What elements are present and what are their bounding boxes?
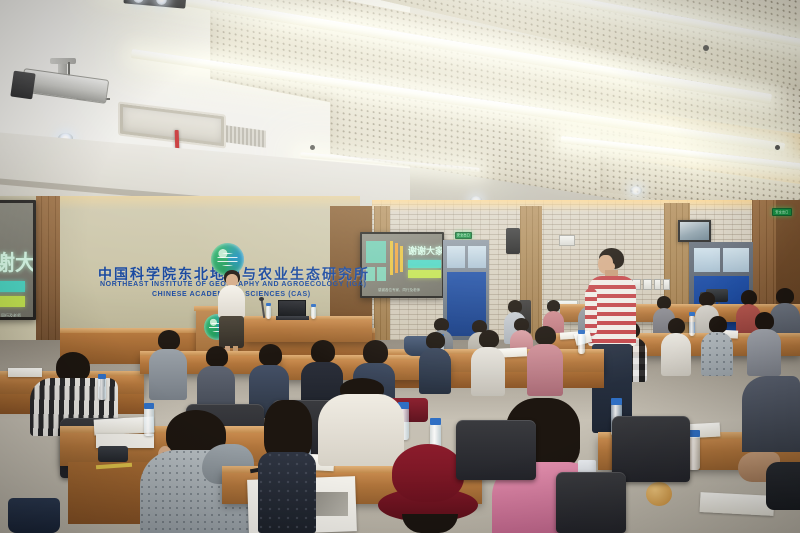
list-item — [660, 318, 692, 376]
attendee-hair — [158, 330, 180, 350]
slide-footer: 感谢各位专家、同行及老师 — [378, 288, 420, 293]
framed-landscape-picture — [678, 220, 711, 242]
slide-date-bar — [0, 296, 25, 307]
attendee-top — [742, 376, 800, 452]
doorway-glass-pane — [468, 246, 486, 268]
attendee-hair — [668, 318, 685, 334]
wall-mounted-loudspeaker — [506, 228, 520, 254]
exit-sign: 安全出口 — [455, 232, 472, 239]
exit-sign: 安全出口 — [772, 208, 792, 216]
bottle-cap — [266, 303, 271, 306]
attendee-hair — [741, 290, 757, 305]
questioner-ear — [610, 263, 615, 270]
attendee-hair — [709, 316, 727, 333]
attendee-top — [747, 329, 781, 376]
orange-fruit-on-desk — [646, 482, 672, 506]
bucket-hat-crown — [392, 444, 464, 502]
attendee-hair — [363, 340, 388, 364]
wall-switch-plate[interactable] — [663, 279, 670, 290]
water-bottle — [266, 306, 271, 319]
slide-chart-block — [366, 241, 386, 263]
bottle-cap — [689, 312, 695, 316]
right-wall-cove-light — [372, 200, 800, 212]
list-item — [470, 330, 506, 396]
attendee-hair — [755, 312, 774, 330]
attendee-hair — [535, 326, 556, 345]
ceiling — [0, 0, 800, 218]
list-item — [258, 400, 318, 533]
list-item — [746, 312, 782, 376]
door-glass-pane — [723, 248, 749, 272]
attendee-sleeve — [766, 462, 800, 510]
bottle-cap — [611, 398, 622, 405]
slide-date-bar — [408, 270, 441, 278]
attendee-top — [527, 344, 563, 396]
bottle-cap — [98, 374, 106, 379]
sprinkler-head — [775, 145, 780, 150]
microphone-head — [259, 297, 264, 301]
wall-switch-plate[interactable] — [643, 279, 652, 290]
attendee-hair — [426, 332, 445, 349]
presentation-laptop[interactable] — [278, 300, 306, 317]
attendee-hair — [402, 514, 458, 533]
water-bottle — [311, 307, 316, 319]
questioner-arm — [585, 288, 597, 336]
presenter-dark-skirt — [219, 316, 244, 348]
slide-subtitle-bar — [408, 260, 441, 268]
lecture-hall-photo: 谢谢大家 感谢各位专家、同行及老师 谢谢大家 感谢各位专家、同行及老师 中国科学… — [0, 0, 800, 533]
wall-switch-plate[interactable] — [654, 279, 661, 290]
attendee-hair — [311, 340, 335, 363]
wood-wall-panel-left — [34, 196, 60, 346]
mesh-office-chair[interactable] — [612, 416, 690, 482]
slide-title: 谢谢大家 — [408, 244, 442, 257]
slide-bar-yellow — [390, 241, 393, 275]
attendee-top — [419, 348, 451, 394]
mesh-office-chair[interactable] — [556, 472, 626, 533]
bag-on-floor — [8, 498, 60, 533]
list-item — [418, 332, 452, 394]
attendee-hair — [259, 344, 282, 366]
slide-bar-orange — [395, 243, 398, 273]
bottle-cap — [430, 418, 441, 425]
projector-lens — [10, 71, 35, 100]
attendee-top — [661, 333, 691, 376]
exit-sign-label: 安全出口 — [775, 211, 788, 214]
mesh-office-chair[interactable] — [456, 420, 536, 480]
list-item — [700, 316, 734, 376]
attendee-top — [149, 349, 187, 400]
attendee-hair — [776, 288, 794, 304]
list-item — [742, 376, 800, 452]
presenter-white-blouse — [218, 285, 245, 318]
bottle-cap — [311, 304, 316, 307]
projection-screen-surface: 谢谢大家 感谢各位专家、同行及老师 — [0, 203, 33, 317]
attendee-top — [701, 332, 733, 376]
projection-screen-surface: 谢谢大家 感谢各位专家、同行及老师 — [362, 234, 442, 296]
slide-subtitle-bar — [0, 281, 25, 292]
attendee-top — [258, 452, 316, 533]
slide-footer: 感谢各位专家、同行及老师 — [0, 313, 21, 317]
attendee-hair — [206, 346, 228, 367]
slide-bar-yellow — [400, 246, 403, 272]
laptop-keyboard-base[interactable] — [276, 316, 309, 320]
sprinkler-head — [310, 145, 315, 150]
sprinkler-head — [703, 45, 709, 51]
door-glass-pane — [694, 248, 720, 272]
slide-title: 谢谢大家 — [0, 247, 33, 277]
side-projection-screen: 谢谢大家 感谢各位专家、同行及老师 — [0, 200, 36, 320]
bottle-cap — [144, 403, 154, 409]
attendee-hair — [479, 330, 499, 348]
water-bottle — [98, 378, 106, 400]
slide-chart-block — [377, 267, 386, 281]
wall-control-box[interactable] — [559, 235, 575, 246]
doorway-glass-pane — [447, 246, 465, 268]
paper-handout — [700, 492, 775, 516]
list-item — [526, 326, 564, 396]
exit-sign-label: 安全出口 — [457, 234, 470, 237]
stage-table — [244, 318, 372, 342]
ceiling-downlight — [630, 186, 642, 195]
list-item — [148, 330, 188, 400]
main-projection-screen: 谢谢大家 感谢各位专家、同行及老师 — [360, 232, 444, 298]
bottle-cap — [578, 330, 585, 334]
smartphone-on-desk[interactable] — [98, 446, 128, 462]
attendee-top — [471, 347, 505, 396]
attendee-hair — [264, 400, 312, 460]
attendee-hair — [699, 292, 715, 306]
water-bottle — [578, 334, 585, 354]
